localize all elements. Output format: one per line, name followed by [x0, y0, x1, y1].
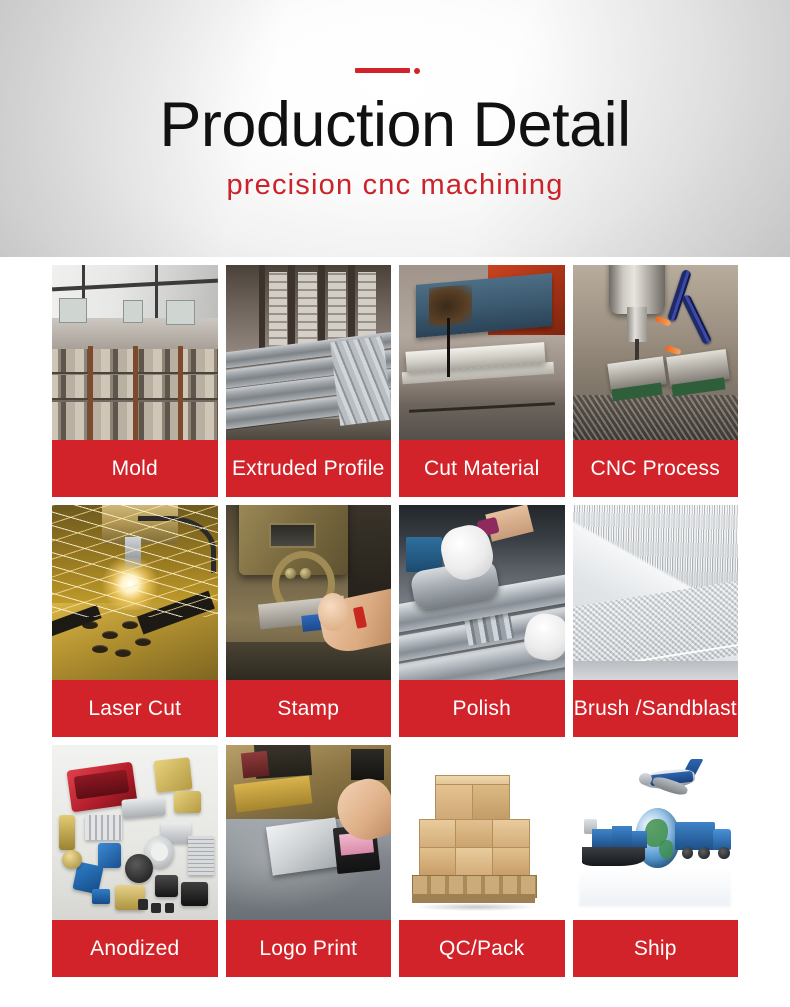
process-step-image-anodized	[52, 745, 218, 920]
process-step-label: Ship	[573, 920, 739, 977]
process-step-image-mold	[52, 265, 218, 440]
process-step-tile[interactable]: CNC Process	[573, 265, 739, 497]
process-step-tile[interactable]: Cut Material	[399, 265, 565, 497]
process-step-image-laser-cut	[52, 505, 218, 680]
process-step-label: Extruded Profile	[226, 440, 392, 497]
process-step-tile[interactable]: Extruded Profile	[226, 265, 392, 497]
process-step-tile[interactable]: Brush /Sandblast	[573, 505, 739, 737]
process-step-image-cnc-process	[573, 265, 739, 440]
process-step-tile[interactable]: Laser Cut	[52, 505, 218, 737]
page-subtitle: precision cnc machining	[0, 168, 790, 203]
process-step-image-ship	[573, 745, 739, 920]
process-step-label: Logo Print	[226, 920, 392, 977]
process-step-tile[interactable]: Stamp	[226, 505, 392, 737]
process-step-label: Stamp	[226, 680, 392, 737]
process-step-tile[interactable]: Mold	[52, 265, 218, 497]
process-step-image-cut-material	[399, 265, 565, 440]
process-step-image-stamp	[226, 505, 392, 680]
process-step-tile[interactable]: Anodized	[52, 745, 218, 977]
process-step-label: Anodized	[52, 920, 218, 977]
process-step-image-brush-sandblast	[573, 505, 739, 680]
page-header: Production Detail precision cnc machinin…	[0, 0, 790, 257]
process-step-label: Laser Cut	[52, 680, 218, 737]
process-step-label: Polish	[399, 680, 565, 737]
process-step-image-logo-print	[226, 745, 392, 920]
process-step-tile[interactable]: Logo Print	[226, 745, 392, 977]
process-step-tile[interactable]: Polish	[399, 505, 565, 737]
process-step-image-polish	[399, 505, 565, 680]
process-step-image-extruded-profile	[226, 265, 392, 440]
red-dot-accent-icon	[414, 68, 420, 74]
process-step-label: Brush /Sandblast	[573, 680, 739, 737]
process-step-label: CNC Process	[573, 440, 739, 497]
process-step-label: Cut Material	[399, 440, 565, 497]
process-step-tile[interactable]: Ship	[573, 745, 739, 977]
process-step-label: QC/Pack	[399, 920, 565, 977]
process-step-grid: Mold Extruded Profile Cut Material	[52, 265, 738, 977]
page-title: Production Detail	[0, 92, 790, 158]
process-step-label: Mold	[52, 440, 218, 497]
process-step-tile[interactable]: QC/Pack	[399, 745, 565, 977]
red-dash-accent-icon	[355, 68, 410, 73]
process-step-image-qc-pack	[399, 745, 565, 920]
